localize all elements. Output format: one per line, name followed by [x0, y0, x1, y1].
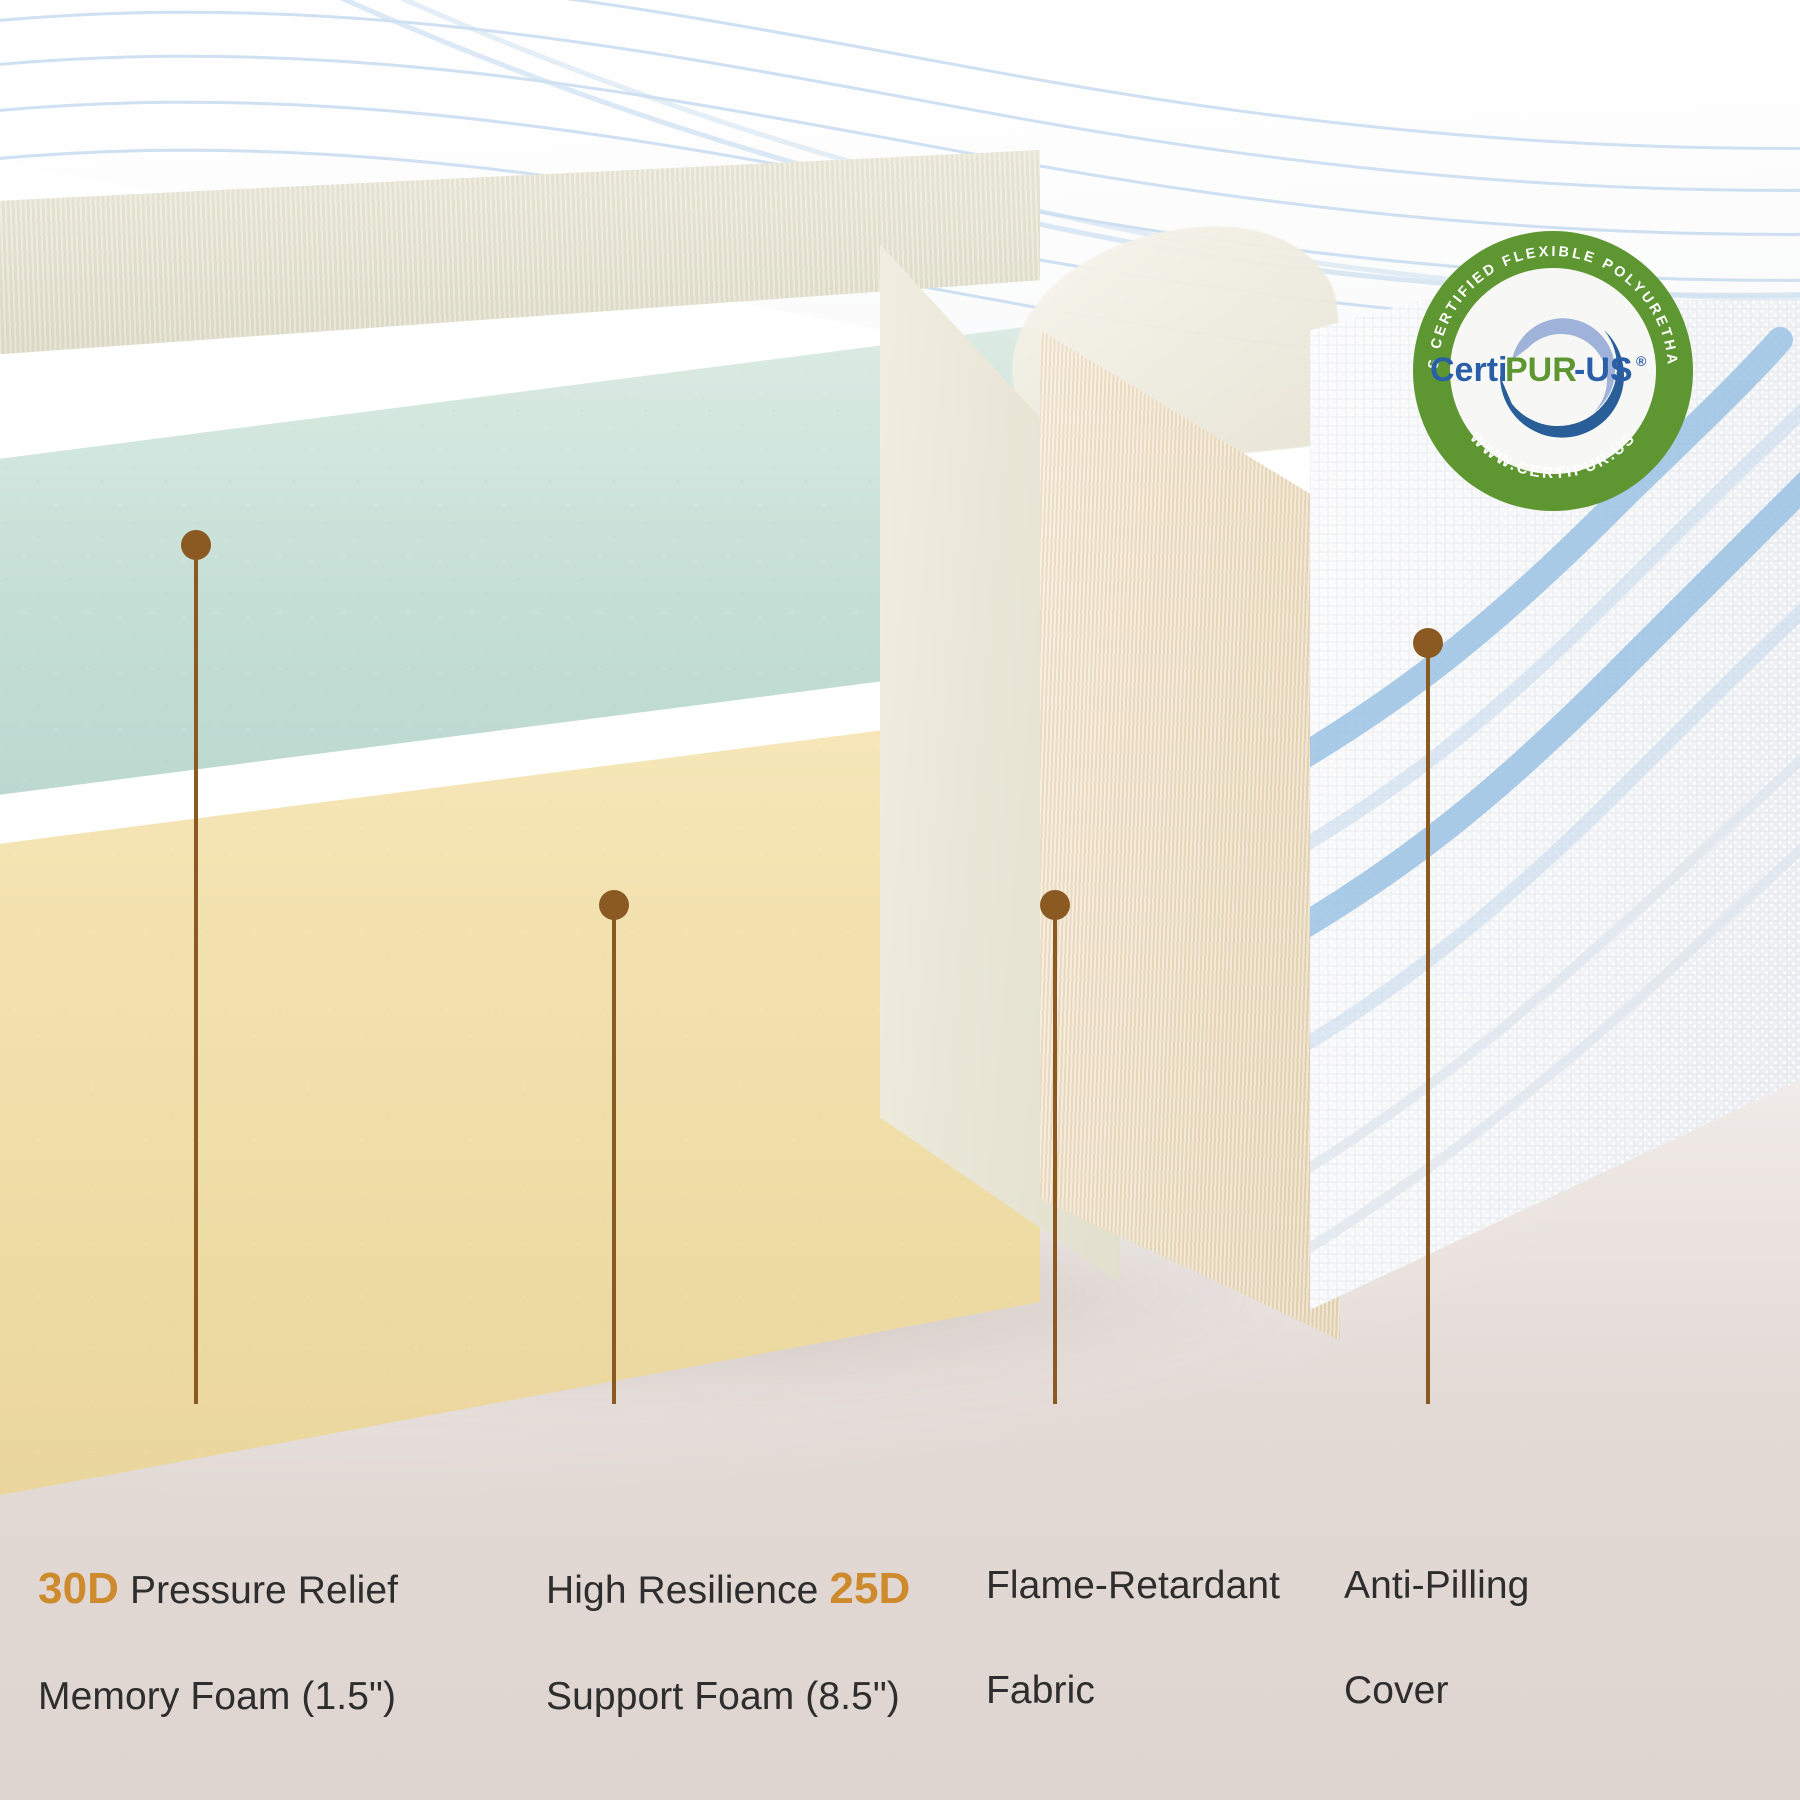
label-support-foam-density: 25D	[829, 1564, 910, 1613]
label-anti-pilling-line2: Cover	[1344, 1665, 1529, 1717]
callout-labels: 30D Pressure Relief Memory Foam (1.5") H…	[0, 1508, 1800, 1708]
label-flame-retardant-line1: Flame-Retardant	[986, 1560, 1280, 1612]
label-memory-foam-title: Pressure Relief	[119, 1569, 398, 1612]
callout-line-anti-pilling-cover	[1426, 654, 1430, 1404]
label-memory-foam-line2: Memory Foam (1.5")	[38, 1671, 398, 1723]
label-support-foam: High Resilience 25D Support Foam (8.5")	[546, 1508, 910, 1776]
label-anti-pilling-line1: Anti-Pilling	[1344, 1560, 1529, 1612]
label-flame-retardant-fabric: Flame-Retardant Fabric	[986, 1508, 1280, 1769]
label-memory-foam-density: 30D	[38, 1564, 119, 1613]
callout-line-flame-retardant-fabric	[1053, 916, 1057, 1404]
callout-line-memory-foam	[194, 556, 198, 1404]
label-anti-pilling-cover: Anti-Pilling Cover	[1344, 1508, 1529, 1769]
product-infographic: CONTAINS CERTIFIED FLEXIBLE POLYURETHANE…	[0, 0, 1800, 1800]
callout-line-support-foam	[612, 916, 616, 1404]
label-support-foam-line2: Support Foam (8.5")	[546, 1671, 910, 1723]
label-support-foam-line1: High Resilience 25D	[546, 1560, 910, 1619]
label-memory-foam-line1: 30D Pressure Relief	[38, 1560, 398, 1619]
label-memory-foam: 30D Pressure Relief Memory Foam (1.5")	[38, 1508, 398, 1776]
label-support-foam-title: High Resilience	[546, 1569, 829, 1612]
label-flame-retardant-line2: Fabric	[986, 1665, 1280, 1717]
